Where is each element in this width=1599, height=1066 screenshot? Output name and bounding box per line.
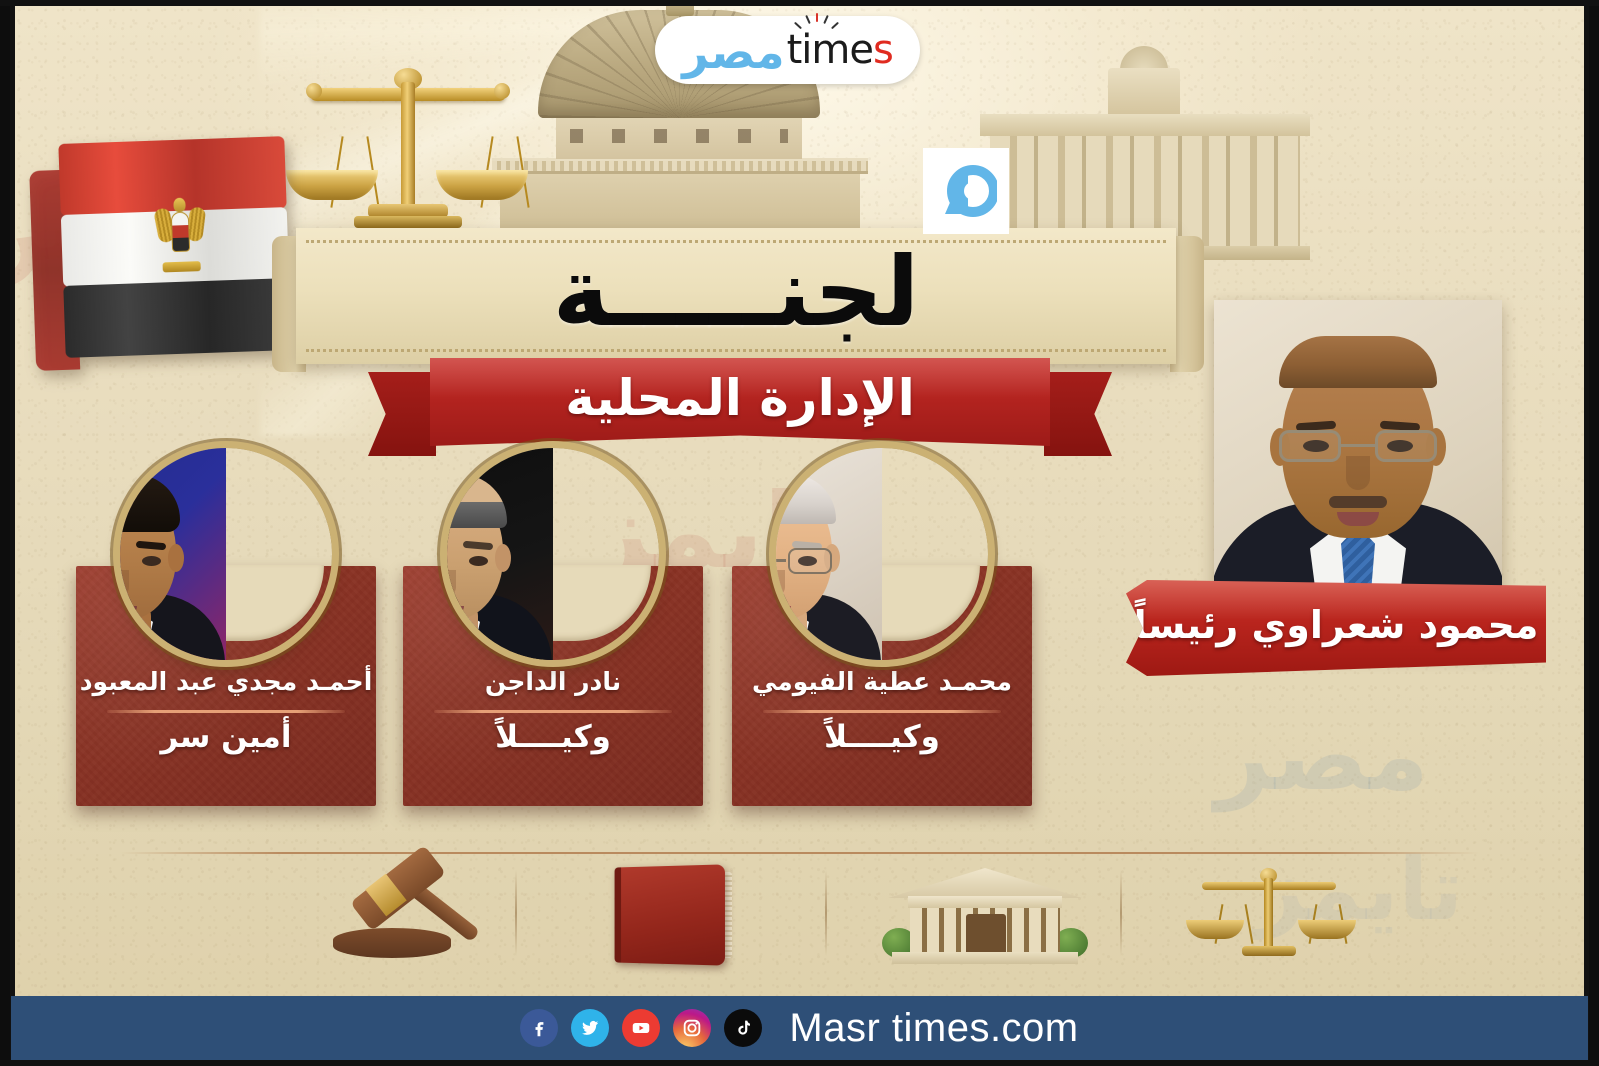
logo-times-text: times: [787, 27, 893, 73]
divider: [107, 710, 345, 713]
footer-bar: Masr times.com: [11, 996, 1588, 1060]
parchment-banner: لجنـــــة: [296, 228, 1176, 364]
law-book-icon: [590, 866, 760, 964]
frame-top: [0, 0, 1599, 6]
chairman-name: محمود شعراوي رئيساً: [1134, 606, 1539, 650]
frame-edge-right: [1588, 0, 1599, 1066]
chairman-block: محمود شعراوي رئيساً: [1126, 300, 1546, 700]
subtitle-ribbon: الإدارة المحلية: [430, 358, 1050, 446]
eagle-emblem-icon: [156, 193, 205, 275]
member-role: وكيــــلاً: [495, 722, 611, 753]
courthouse-icon: [880, 866, 1090, 964]
member-name: محمـد عطية الفيومي: [752, 668, 1012, 697]
scales-of-justice-icon: [288, 52, 528, 252]
bottom-icon-strip: [120, 852, 1480, 974]
member-name: أحمـد مجدي عبد المعبود: [80, 668, 373, 697]
instagram-icon[interactable]: [673, 1009, 711, 1047]
youtube-icon[interactable]: [622, 1009, 660, 1047]
chairman-banner: محمود شعراوي رئيساً: [1126, 580, 1546, 676]
avatar: [776, 448, 988, 660]
site-url[interactable]: Masr times.com: [789, 1008, 1078, 1048]
egypt-flag: [58, 136, 291, 359]
gavel-icon: [325, 866, 505, 964]
avatar: [120, 448, 332, 660]
blue-p-mark-icon: [923, 148, 1009, 234]
infographic-poster: مصر تايمز مصر تايمز: [0, 0, 1599, 1066]
logo-times-s: s: [873, 27, 893, 73]
page-subtitle: الإدارة المحلية: [565, 373, 915, 431]
member-role: أمين سر: [161, 722, 292, 753]
classical-building: [980, 60, 1310, 252]
logo-masr-text: مصر: [682, 29, 784, 75]
masr-times-logo[interactable]: times مصر: [655, 16, 920, 84]
divider: [434, 710, 672, 713]
frame-bottom: [0, 1060, 1599, 1066]
member-role: وكيــــلاً: [824, 722, 940, 753]
members-row: أحمـد مجدي عبد المعبود أمين سر: [60, 448, 1070, 838]
facebook-icon[interactable]: [520, 1009, 558, 1047]
spark-icon: [793, 13, 839, 35]
tiktok-icon[interactable]: [724, 1009, 762, 1047]
frame-left: [10, 0, 15, 1066]
avatar: [447, 448, 659, 660]
page-title: لجنـــــة: [296, 228, 1176, 364]
twitter-icon[interactable]: [571, 1009, 609, 1047]
member-name: نادر الداجن: [485, 668, 621, 697]
divider: [763, 710, 1001, 713]
scales-icon: [1190, 866, 1350, 964]
frame-right: [1584, 0, 1589, 1066]
